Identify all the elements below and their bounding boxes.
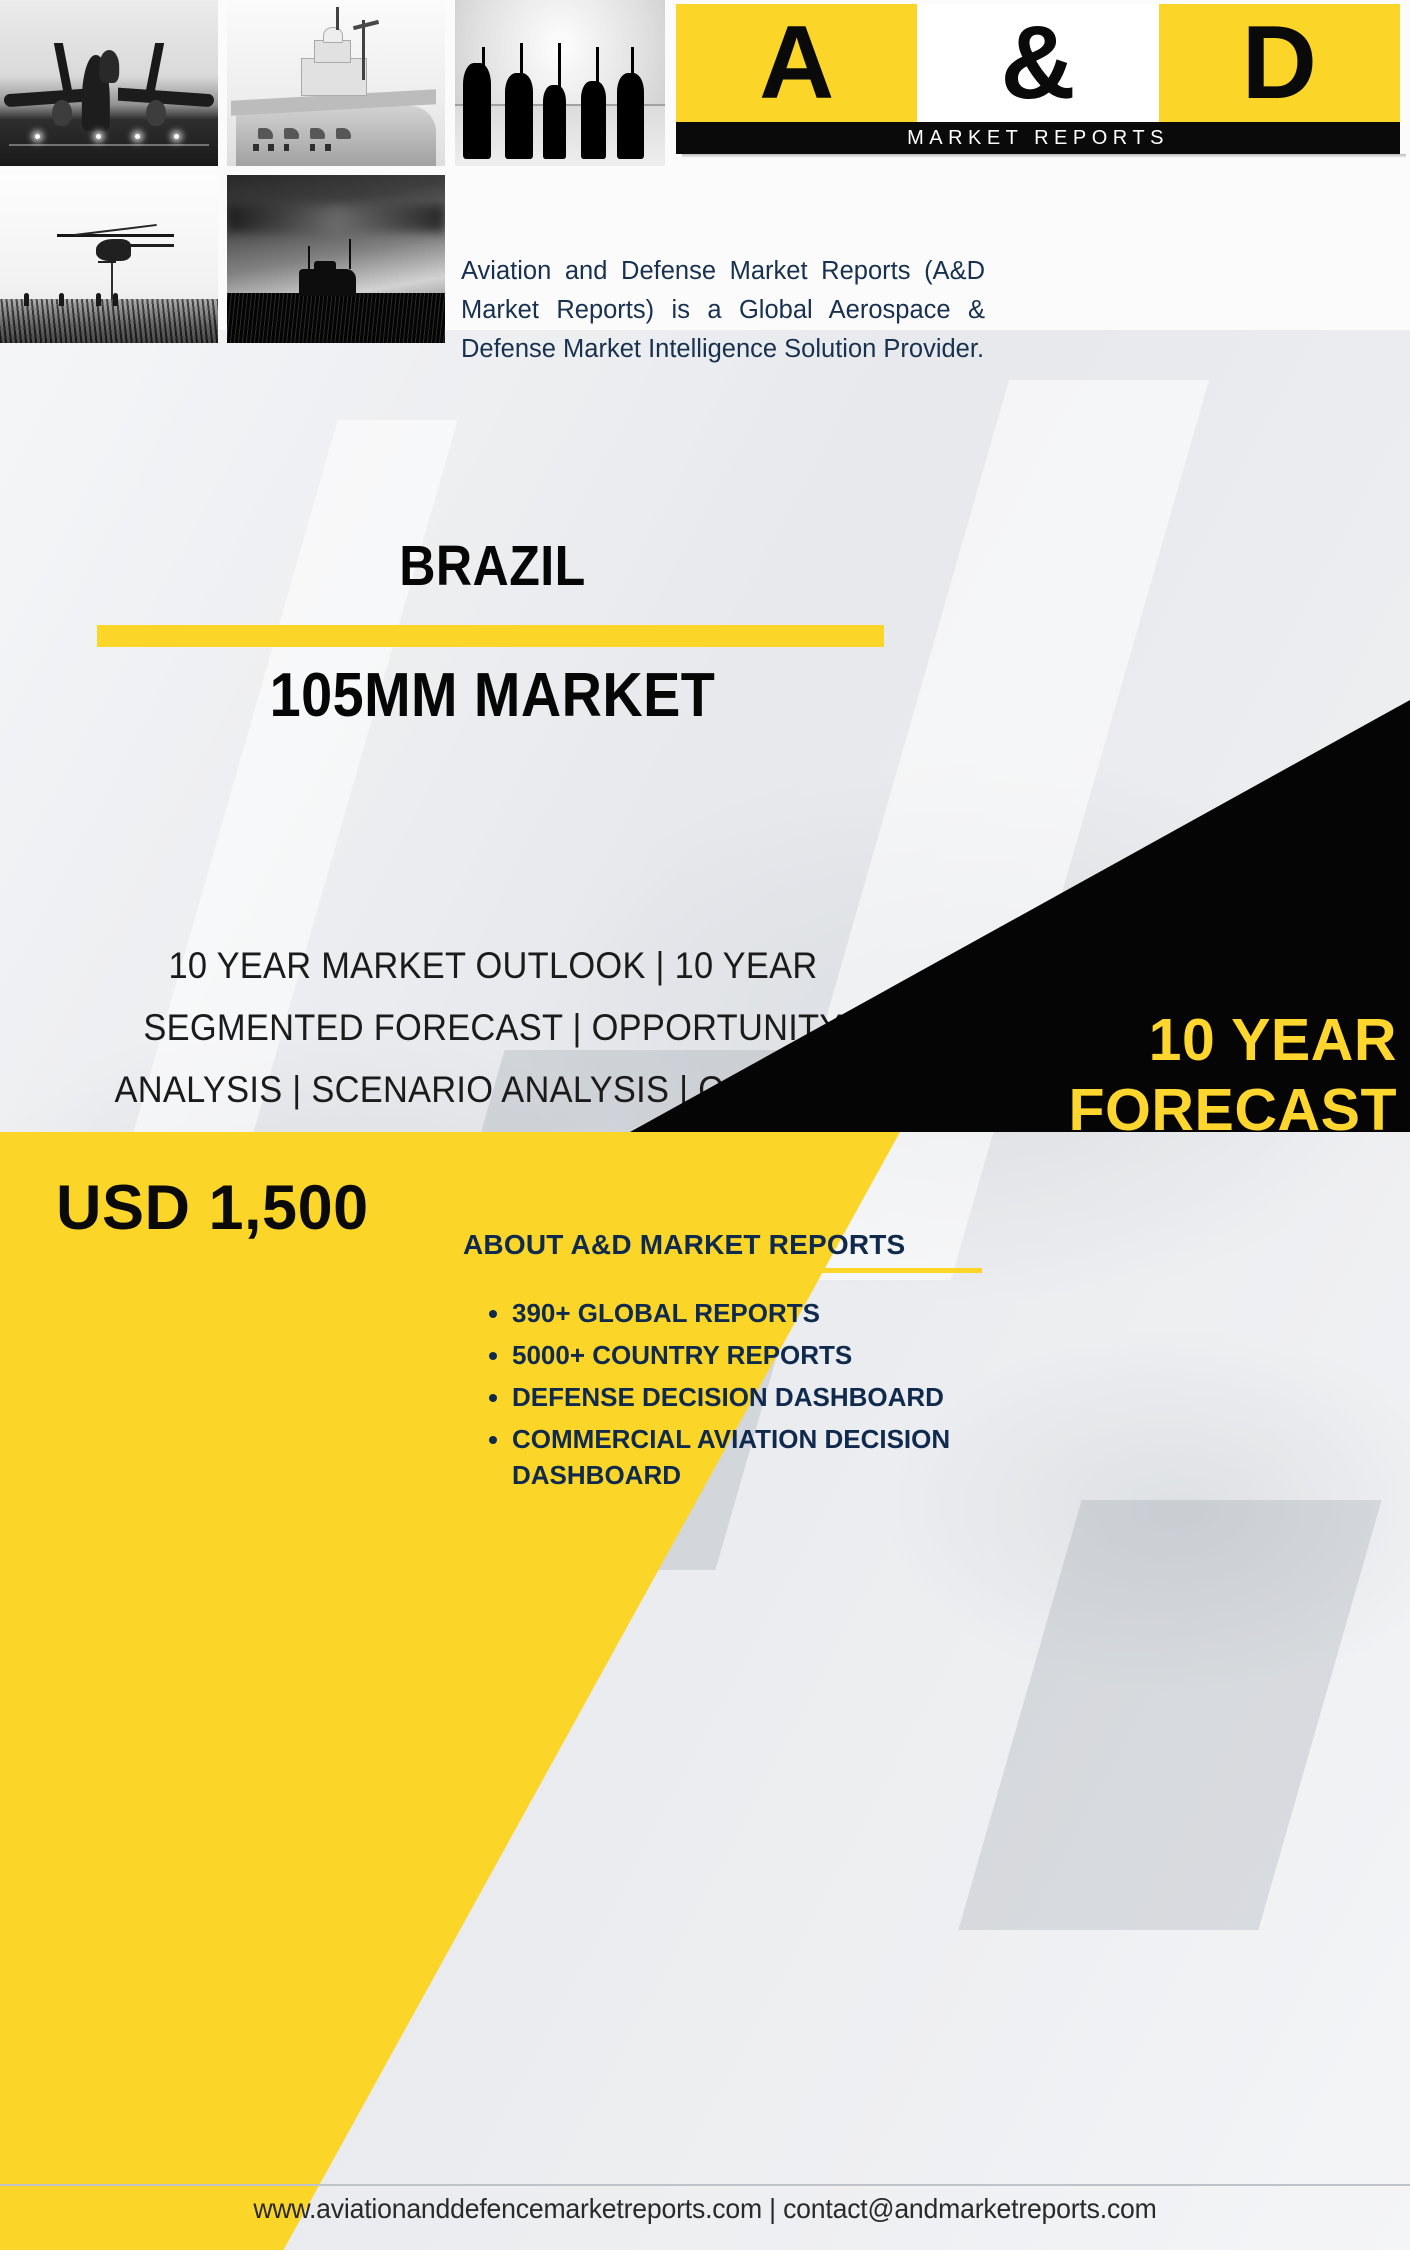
about-bullet-list: 390+ GLOBAL REPORTS 5000+ COUNTRY REPORT…: [487, 1295, 987, 1499]
logo-shadow: [682, 154, 1406, 158]
logo-tiles: A & D: [676, 4, 1400, 122]
report-country-title: BRAZIL: [59, 533, 926, 599]
footer-contact-text[interactable]: www.aviationanddefencemarketreports.com …: [35, 2193, 1375, 2225]
footer-divider: [0, 2184, 1410, 2186]
about-bullet-global-reports: 390+ GLOBAL REPORTS: [512, 1295, 987, 1331]
price-value: USD 1,500: [56, 1172, 476, 1244]
title-divider-rule: [97, 625, 884, 647]
report-cover-poster: A & D MARKET REPORTS Aviation and Defens…: [0, 0, 1410, 2250]
photo-naval-warship: [227, 0, 445, 166]
photo-fighter-jet-on-carrier-deck: [0, 0, 218, 166]
forecast-line-1: 10 YEAR: [640, 1005, 1397, 1075]
about-heading: ABOUT A&D MARKET REPORTS: [463, 1229, 983, 1261]
logo-subtitle: MARKET REPORTS: [676, 122, 1400, 154]
about-bullet-aviation-dashboard: COMMERCIAL AVIATION DECISION DASHBOARD: [512, 1421, 987, 1493]
forecast-badge: 10 YEAR FORECAST: [640, 1005, 1405, 1145]
report-main-title: 105MM MARKET: [49, 660, 936, 731]
logo-letter-d: D: [1159, 4, 1400, 122]
company-intro-text: Aviation and Defense Market Reports (A&D…: [461, 252, 985, 369]
brand-logo: A & D MARKET REPORTS: [676, 4, 1400, 156]
photo-soldiers-silhouette: [455, 0, 665, 166]
about-bullet-defense-dashboard: DEFENSE DECISION DASHBOARD: [512, 1379, 987, 1415]
logo-letter-a: A: [676, 4, 917, 122]
photo-armoured-vehicle-at-dusk: [227, 175, 445, 343]
about-divider-rule: [462, 1268, 982, 1273]
about-bullet-country-reports: 5000+ COUNTRY REPORTS: [512, 1337, 987, 1373]
logo-ampersand: &: [917, 4, 1158, 122]
photo-military-helicopter-rope-insertion: [0, 175, 218, 343]
